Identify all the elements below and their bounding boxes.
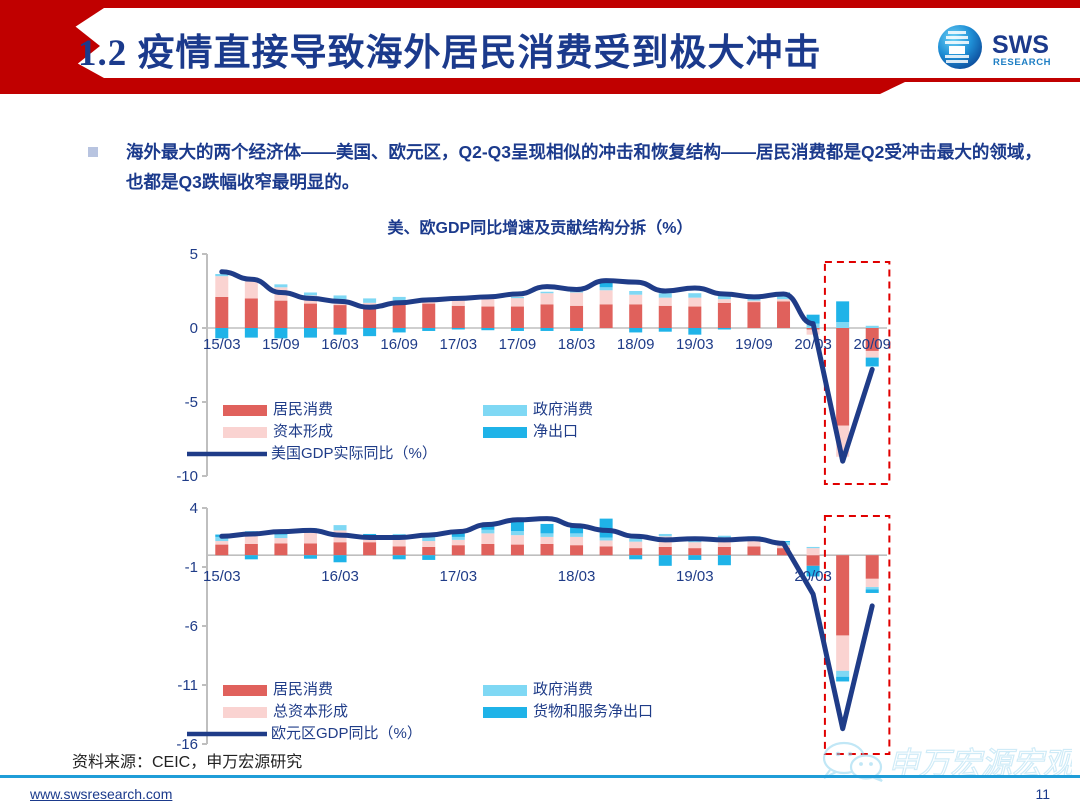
bar-segment-capital — [718, 299, 731, 303]
bar-segment-household — [747, 302, 760, 328]
bar-segment-household — [629, 548, 642, 555]
y-tick-label: 4 — [190, 500, 198, 517]
bar-segment-household — [600, 546, 613, 555]
bar-segment-government — [304, 292, 317, 295]
slide-header: 1.2 疫情直接导致海外居民消费受到极大冲击 SWS RESEARCH — [0, 0, 1080, 108]
sws-research-logo: SWS RESEARCH — [936, 22, 1066, 76]
bar-segment-capital — [511, 298, 524, 307]
legend-label: 总资本形成 — [273, 703, 348, 720]
bar-segment-netexport — [393, 328, 406, 332]
bar-segment-government — [541, 292, 554, 293]
bar-segment-capital — [747, 541, 760, 546]
bar-segment-household — [511, 545, 524, 556]
bar-segment-household — [688, 307, 701, 328]
bar-segment-household — [629, 304, 642, 328]
legend-item: 欧元区GDP同比（%） — [187, 725, 422, 742]
x-tick-label: 20/03 — [794, 336, 832, 353]
bar-segment-government — [334, 525, 347, 530]
x-tick-label: 18/03 — [558, 568, 596, 585]
x-tick-label: 15/03 — [203, 336, 241, 353]
logo-text: SWS — [992, 31, 1049, 59]
bar-segment-household — [393, 546, 406, 555]
bar-segment-government — [393, 297, 406, 301]
bar-segment-household — [215, 297, 228, 328]
x-tick-label: 19/03 — [676, 336, 714, 353]
bar-segment-netexport — [541, 328, 554, 331]
bar-segment-netexport — [629, 555, 642, 559]
bar-segment-netexport — [481, 328, 494, 330]
legend-item: 政府消费 — [483, 681, 593, 698]
bar-segment-household — [836, 555, 849, 635]
x-tick-label: 15/09 — [262, 336, 300, 353]
bar-segment-netexport — [304, 555, 317, 559]
bar-segment-capital — [215, 541, 228, 545]
bar-segment-capital — [866, 579, 879, 587]
bar-segment-household — [718, 547, 731, 555]
bar-segment-household — [452, 306, 465, 328]
bar-segment-household — [541, 544, 554, 555]
bar-segment-netexport — [718, 555, 731, 565]
bar-segment-netexport — [245, 328, 258, 338]
bar-segment-capital — [245, 281, 258, 298]
bar-segment-capital — [629, 295, 642, 305]
bar-segment-household — [511, 307, 524, 328]
bar-segment-government — [452, 537, 465, 540]
legend-item: 居民消费 — [223, 681, 333, 698]
legend-item: 资本形成 — [223, 423, 333, 440]
bar-segment-government — [836, 322, 849, 328]
bar-segment-netexport — [422, 328, 435, 331]
x-tick-label: 19/09 — [735, 336, 773, 353]
bar-segment-government — [600, 287, 613, 290]
legend-label: 欧元区GDP同比（%） — [271, 725, 422, 742]
bar-segment-capital — [600, 290, 613, 304]
bar-segment-household — [422, 547, 435, 555]
legend-label: 政府消费 — [533, 401, 593, 418]
highlight-box — [825, 516, 889, 754]
bar-segment-netexport — [836, 301, 849, 322]
bar-segment-household — [245, 298, 258, 328]
bar-segment-netexport — [452, 328, 465, 329]
x-tick-label: 20/03 — [794, 568, 832, 585]
bar-segment-capital — [777, 299, 790, 301]
bar-segment-household — [807, 555, 820, 566]
legend-item: 政府消费 — [483, 401, 593, 418]
y-tick-label: -10 — [176, 468, 198, 485]
page-title: 1.2 疫情直接导致海外居民消费受到极大冲击 — [78, 22, 822, 76]
bar-segment-household — [452, 545, 465, 555]
legend-item: 美国GDP实际同比（%） — [187, 445, 437, 462]
bar-segment-household — [747, 546, 760, 555]
charts-title: 美、欧GDP同比增速及贡献结构分拆（%） — [0, 214, 1080, 238]
bar-segment-household — [836, 328, 849, 426]
bar-segment-capital — [570, 537, 583, 545]
bullet-block: 海外最大的两个经济体——美国、欧元区，Q2-Q3呈现相似的冲击和恢复结构——居民… — [88, 137, 1048, 197]
bar-segment-household — [393, 302, 406, 328]
bar-segment-capital — [541, 293, 554, 304]
bar-segment-netexport — [363, 328, 376, 336]
legend-item: 总资本形成 — [223, 703, 348, 720]
bar-segment-capital — [304, 533, 317, 544]
bar-segment-household — [304, 543, 317, 555]
bar-segment-capital — [274, 538, 287, 543]
legend-label: 美国GDP实际同比（%） — [271, 445, 437, 462]
bar-segment-household — [570, 545, 583, 555]
bar-segment-netexport — [334, 328, 347, 335]
highlight-box — [825, 262, 889, 484]
y-tick-label: -6 — [185, 618, 198, 635]
bar-segment-government — [481, 530, 494, 534]
bar-segment-netexport — [511, 522, 524, 531]
x-tick-label: 17/03 — [440, 336, 478, 353]
bar-segment-netexport — [245, 555, 258, 559]
y-tick-label: -5 — [185, 394, 198, 411]
bar-segment-netexport — [836, 677, 849, 682]
source-label: 资料来源：CEIC，申万宏源研究 — [72, 748, 302, 772]
chart-us-gdp: 50-5-1015/0315/0916/0316/0917/0317/0918/… — [165, 244, 905, 494]
bar-segment-government — [274, 535, 287, 539]
x-tick-label: 15/03 — [203, 568, 241, 585]
bullet-text: 海外最大的两个经济体——美国、欧元区，Q2-Q3呈现相似的冲击和恢复结构——居民… — [126, 137, 1048, 197]
legend-label: 居民消费 — [273, 401, 333, 418]
bar-segment-government — [511, 531, 524, 535]
bar-segment-netexport — [570, 328, 583, 331]
y-tick-label: -11 — [177, 677, 198, 694]
legend-label: 资本形成 — [273, 423, 333, 440]
bar-segment-household — [274, 301, 287, 328]
bar-segment-government — [570, 533, 583, 537]
bar-segment-capital — [481, 298, 494, 306]
bar-segment-government — [600, 538, 613, 541]
bar-segment-household — [481, 307, 494, 328]
bar-segment-capital — [688, 298, 701, 307]
bar-segment-household — [363, 542, 376, 555]
bar-segment-government — [629, 539, 642, 542]
footer-divider — [0, 775, 1080, 778]
legend-item: 居民消费 — [223, 401, 333, 418]
bar-segment-capital — [511, 535, 524, 544]
bar-segment-household — [334, 305, 347, 328]
legend-label: 居民消费 — [273, 681, 333, 698]
x-tick-label: 16/09 — [380, 336, 418, 353]
bar-segment-netexport — [866, 589, 879, 593]
bar-segment-netexport — [393, 555, 406, 559]
bar-segment-government — [659, 293, 672, 297]
footer-page-number: 11 — [1035, 786, 1050, 802]
legend-label: 政府消费 — [533, 681, 593, 698]
bar-segment-household — [422, 304, 435, 328]
bar-segment-household — [688, 548, 701, 555]
chart-eu-gdp: 4-1-6-11-1615/0316/0317/0318/0319/0320/0… — [165, 498, 905, 766]
bar-segment-capital — [747, 301, 760, 302]
y-tick-label: 5 — [190, 246, 198, 263]
x-tick-label: 16/03 — [321, 568, 359, 585]
x-tick-label: 17/03 — [440, 568, 478, 585]
bar-segment-government — [866, 326, 879, 328]
bar-segment-household — [481, 544, 494, 555]
bar-segment-government — [659, 534, 672, 536]
bar-segment-capital — [629, 542, 642, 548]
bar-segment-government — [807, 547, 820, 548]
bar-segment-government — [541, 533, 554, 537]
bar-segment-household — [274, 543, 287, 555]
footer-url-link[interactable]: www.swsresearch.com — [30, 786, 172, 802]
bar-segment-household — [541, 304, 554, 328]
bar-segment-household — [600, 304, 613, 328]
legend-label: 净出口 — [533, 423, 578, 440]
bar-segment-netexport — [629, 328, 642, 332]
bar-segment-household — [245, 544, 258, 555]
bar-segment-government — [866, 587, 879, 589]
bar-segment-netexport — [866, 358, 879, 367]
x-tick-label: 18/03 — [558, 336, 596, 353]
bar-segment-household — [718, 303, 731, 328]
bar-segment-capital — [688, 542, 701, 548]
bar-segment-netexport — [541, 524, 554, 533]
x-tick-label: 20/09 — [853, 336, 891, 353]
bar-segment-household — [866, 555, 879, 579]
bar-segment-government — [836, 671, 849, 677]
bar-segment-household — [304, 304, 317, 328]
bar-segment-capital — [541, 537, 554, 544]
bar-segment-netexport — [511, 328, 524, 331]
bar-segment-government — [688, 293, 701, 297]
bar-segment-capital — [215, 276, 228, 297]
bar-segment-netexport — [718, 328, 731, 329]
bar-segment-capital — [807, 548, 820, 555]
square-bullet-icon — [88, 147, 98, 157]
bar-segment-netexport — [334, 555, 347, 562]
bar-segment-government — [334, 295, 347, 299]
bar-segment-household — [334, 542, 347, 555]
bar-segment-government — [629, 291, 642, 295]
y-tick-label: -1 — [185, 559, 198, 576]
x-tick-label: 16/03 — [321, 336, 359, 353]
bar-segment-capital — [659, 298, 672, 306]
bar-segment-household — [215, 545, 228, 556]
bar-segment-government — [274, 284, 287, 287]
bar-segment-household — [659, 547, 672, 555]
legend-item: 净出口 — [483, 423, 578, 440]
x-tick-label: 18/09 — [617, 336, 655, 353]
bar-segment-netexport — [659, 555, 672, 566]
bar-segment-capital — [422, 541, 435, 547]
bar-segment-netexport — [659, 328, 672, 332]
y-tick-label: 0 — [190, 320, 198, 337]
logo-subtext: RESEARCH — [993, 57, 1051, 68]
x-tick-label: 19/03 — [676, 568, 714, 585]
legend-label: 货物和服务净出口 — [533, 703, 653, 720]
bar-segment-netexport — [688, 555, 701, 560]
bar-segment-netexport — [304, 328, 317, 338]
x-tick-label: 17/09 — [499, 336, 537, 353]
bar-segment-netexport — [688, 328, 701, 335]
bar-segment-capital — [570, 292, 583, 305]
bar-segment-capital — [452, 540, 465, 545]
bar-segment-household — [659, 306, 672, 328]
legend-item: 货物和服务净出口 — [483, 703, 653, 720]
bar-segment-government — [363, 298, 376, 302]
bar-segment-household — [570, 306, 583, 328]
bar-segment-netexport — [422, 555, 435, 560]
bar-segment-capital — [481, 533, 494, 544]
bar-segment-government — [511, 297, 524, 298]
bar-segment-capital — [600, 540, 613, 546]
bar-segment-household — [777, 301, 790, 328]
bar-segment-capital — [836, 635, 849, 670]
